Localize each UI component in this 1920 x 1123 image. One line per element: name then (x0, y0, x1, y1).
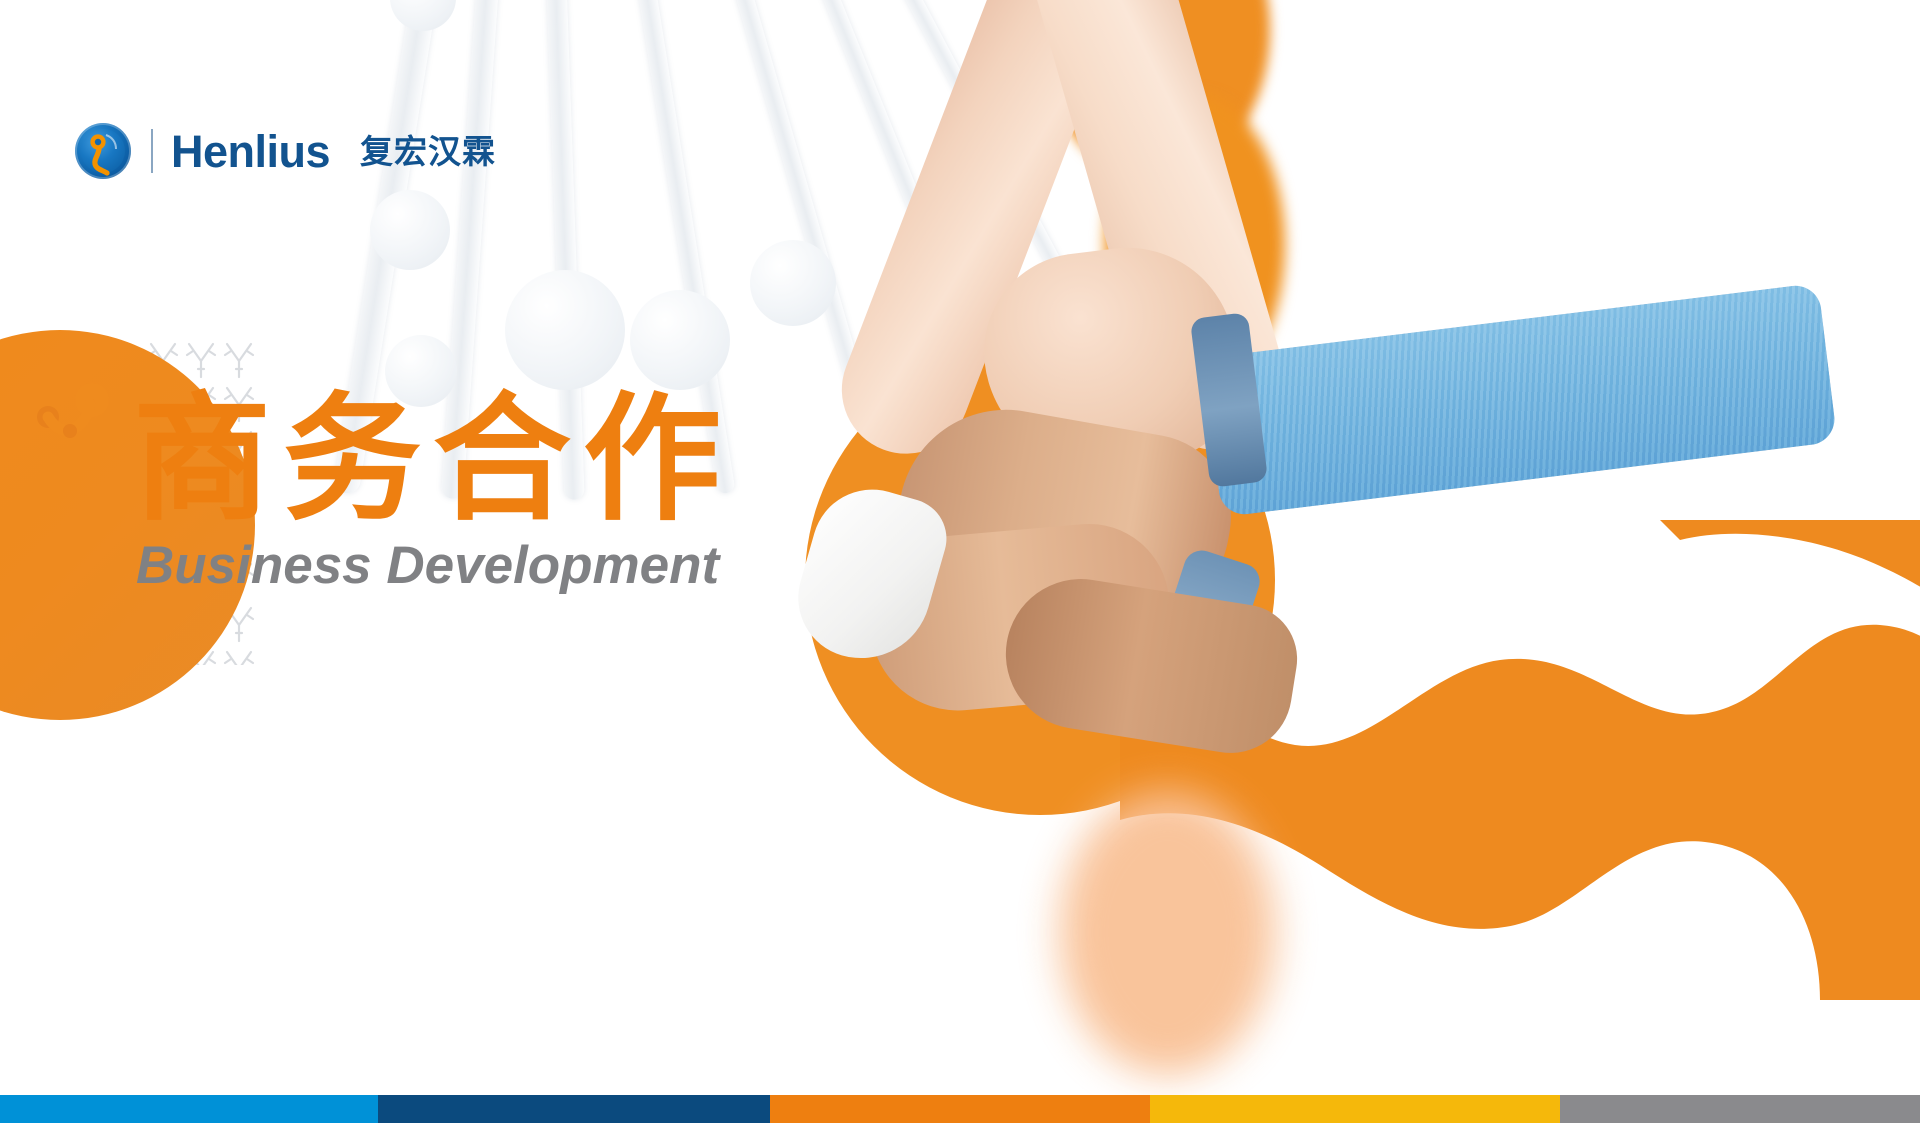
brand-logo: Henlius 复宏汉霖 (75, 123, 496, 179)
bar-segment-light-blue (0, 1095, 378, 1123)
logo-divider (151, 129, 153, 173)
bar-segment-orange (770, 1095, 1150, 1123)
orange-wave-shape (1120, 520, 1920, 1000)
bar-segment-gray (1560, 1095, 1920, 1123)
henlius-circle-logo-icon (75, 123, 131, 179)
presentation-slide: Henlius 复宏汉霖 商务合作 Business Development (0, 0, 1920, 1123)
molecule-icon (26, 382, 118, 444)
logo-chinese-name: 复宏汉霖 (360, 135, 496, 168)
bar-segment-gold (1150, 1095, 1560, 1123)
logo-wordmark: Henlius (171, 129, 330, 174)
peach-blob (1060, 790, 1275, 1075)
orange-blob-top-secondary (1105, 95, 1285, 395)
slide-subtitle-english: Business Development (136, 535, 719, 596)
orange-blob-top (1040, 0, 1270, 180)
orange-circle-backdrop (805, 345, 1275, 815)
bottom-color-bar (0, 1095, 1920, 1123)
bar-segment-dark-blue (378, 1095, 770, 1123)
slide-title-chinese: 商务合作 (133, 385, 733, 537)
hands-stacked-teamwork-photo (780, 0, 1920, 820)
